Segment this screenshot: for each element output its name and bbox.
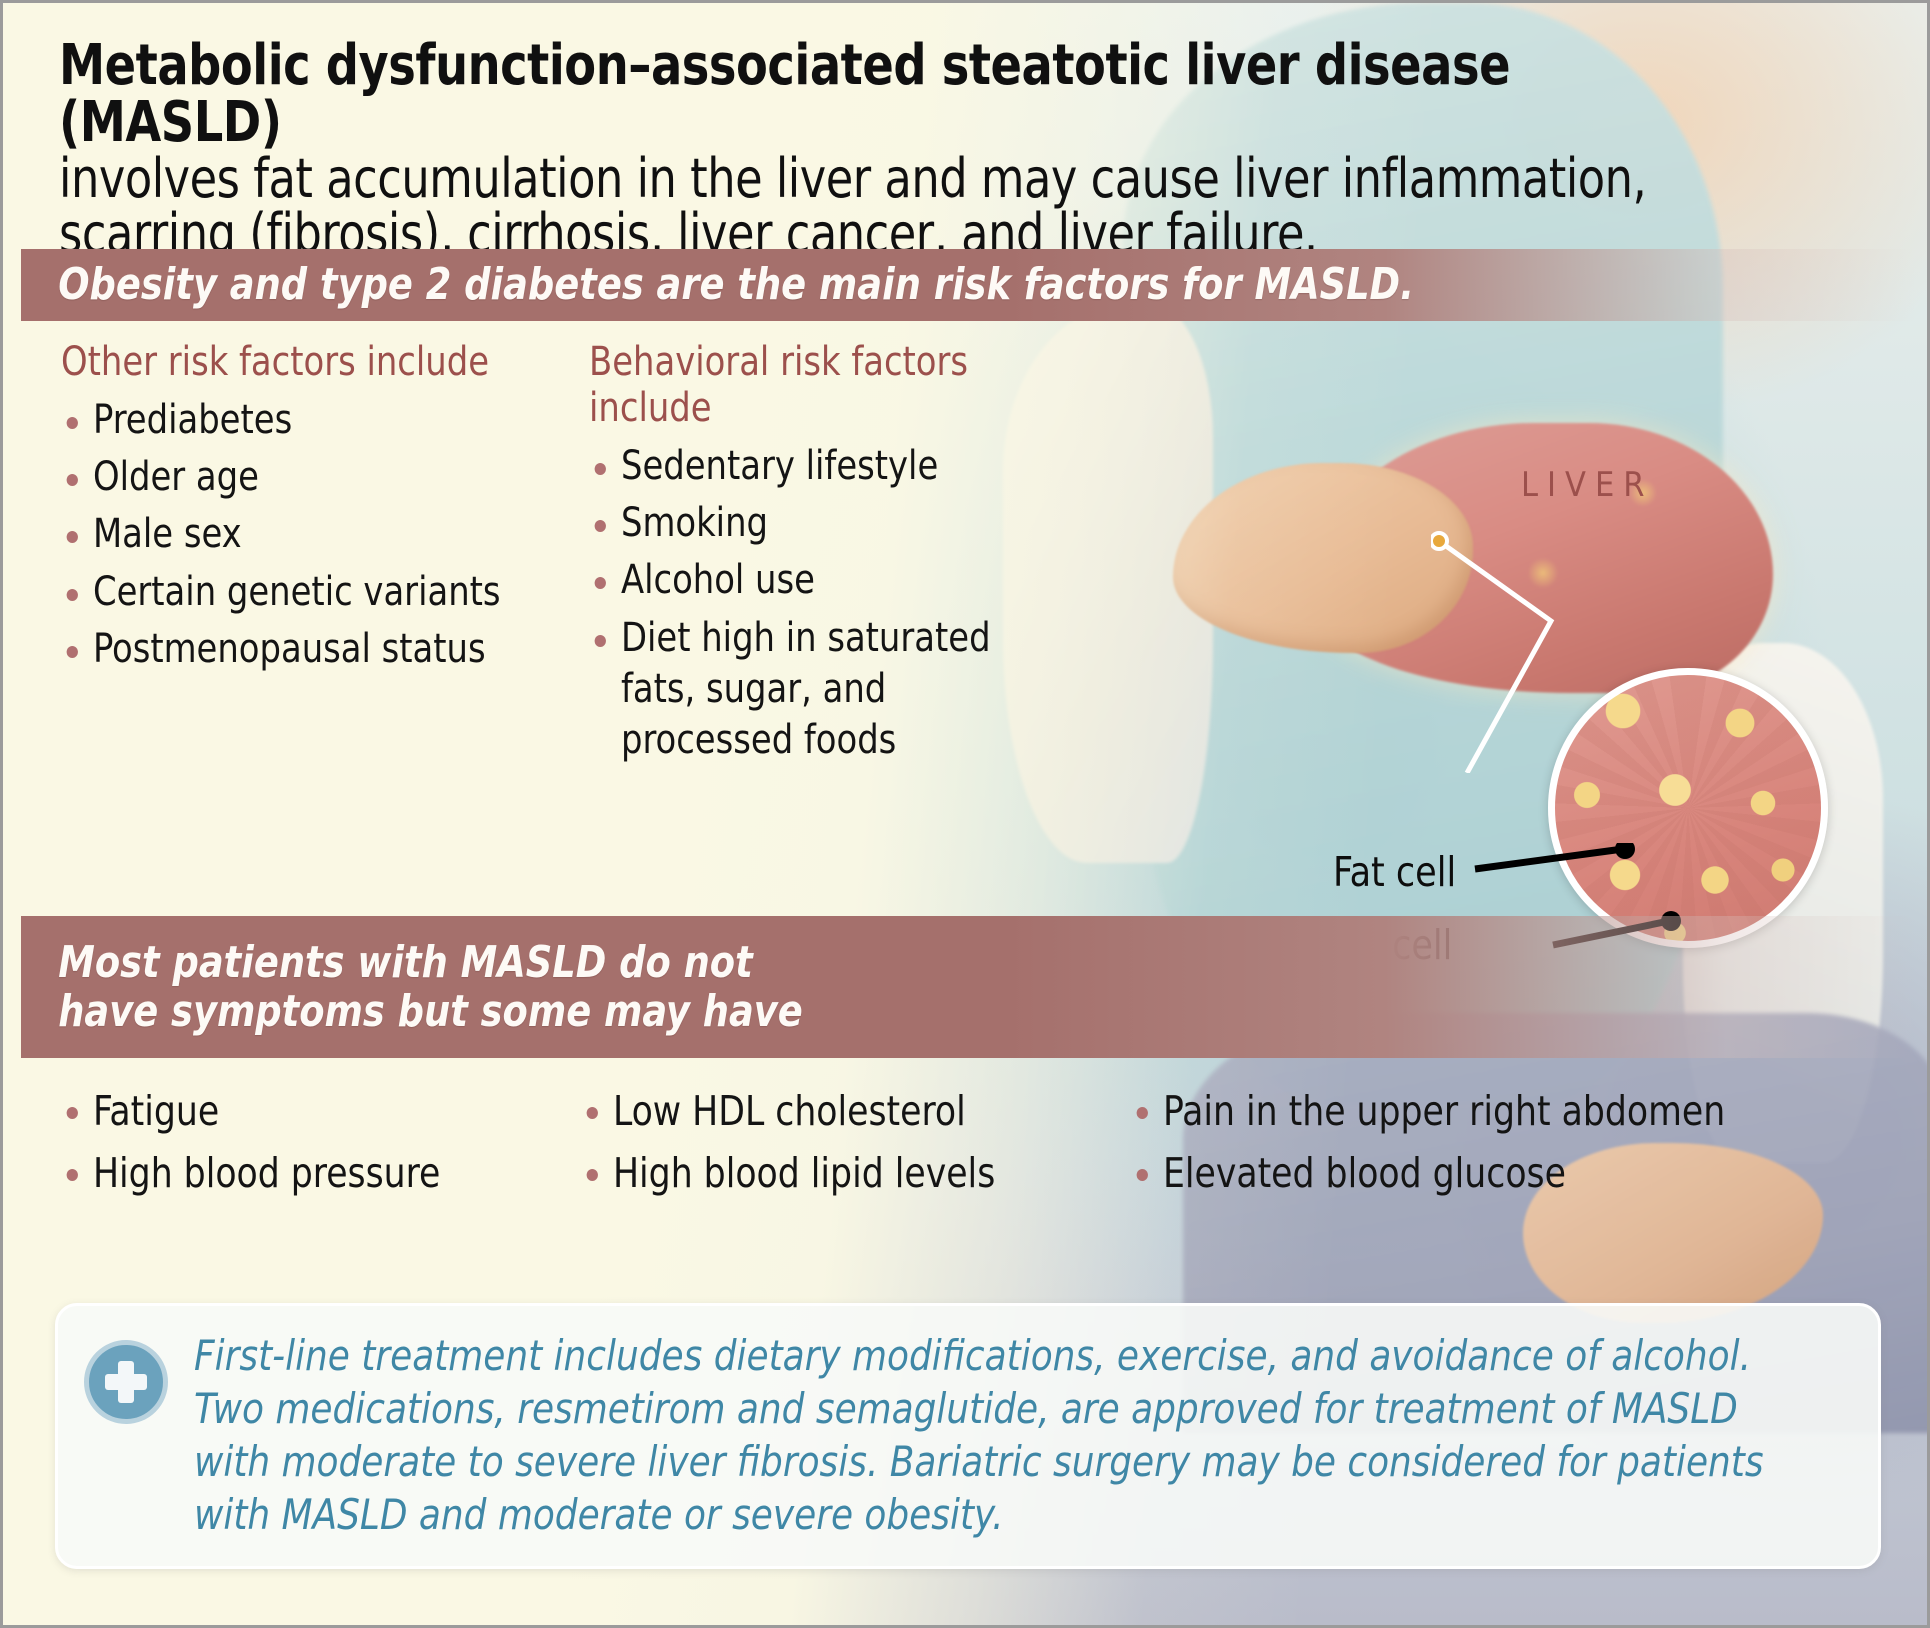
other-risk-factors-column: Other risk factors include Prediabetes O…	[61, 339, 531, 772]
symptoms-banner-line-1: Most patients with MASLD do not	[58, 938, 803, 987]
list-item: Prediabetes	[61, 395, 503, 446]
symptoms-columns: Fatigue High blood pressure Low HDL chol…	[61, 1085, 1891, 1210]
symptoms-banner: Most patients with MASLD do not have sym…	[21, 916, 1915, 1058]
list-item: Pain in the upper right abdomen	[1131, 1085, 1845, 1137]
risk-factor-columns: Other risk factors include Prediabetes O…	[61, 339, 1019, 772]
list-item: High blood pressure	[61, 1147, 550, 1199]
list-item: Fatigue	[61, 1085, 550, 1137]
header: Metabolic dysfunction–associated steatot…	[3, 3, 1930, 277]
symptoms-column-3: Pain in the upper right abdomen Elevated…	[1131, 1085, 1891, 1210]
treatment-text: First-line treatment includes dietary mo…	[194, 1330, 1765, 1542]
behavioral-risk-factors-column: Behavioral risk factors include Sedentar…	[589, 339, 1019, 772]
list-item: Smoking	[589, 498, 993, 549]
behavioral-risk-factors-heading: Behavioral risk factors include	[589, 339, 993, 431]
page-title: Metabolic dysfunction–associated steatot…	[59, 37, 1732, 151]
page-subtitle-line-1: involves fat accumulation in the liver a…	[59, 151, 1732, 206]
symptoms-column-1: Fatigue High blood pressure	[61, 1085, 581, 1210]
risk-factors-banner-text: Obesity and type 2 diabetes are the main…	[21, 250, 1414, 319]
symptoms-banner-text: Most patients with MASLD do not have sym…	[21, 928, 803, 1047]
list-item: Elevated blood glucose	[1131, 1147, 1845, 1199]
risk-factors-banner: Obesity and type 2 diabetes are the main…	[21, 249, 1915, 321]
list-item: High blood lipid levels	[581, 1147, 1098, 1199]
list-item: Sedentary lifestyle	[589, 441, 993, 492]
symptoms-column-2: Low HDL cholesterol High blood lipid lev…	[581, 1085, 1131, 1210]
behavioral-risk-factors-list: Sedentary lifestyle Smoking Alcohol use …	[589, 441, 1019, 766]
list-item: Older age	[61, 452, 503, 503]
medical-plus-icon	[84, 1340, 168, 1424]
infographic-frame: Metabolic dysfunction–associated steatot…	[0, 0, 1930, 1628]
list-item: Male sex	[61, 509, 503, 560]
list-item: Postmenopausal status	[61, 624, 503, 675]
list-item: Alcohol use	[589, 555, 993, 606]
treatment-callout-box: First-line treatment includes dietary mo…	[55, 1303, 1881, 1569]
symptoms-banner-line-2: have symptoms but some may have	[58, 987, 803, 1036]
other-risk-factors-list: Prediabetes Older age Male sex Certain g…	[61, 395, 531, 675]
other-risk-factors-heading: Other risk factors include	[61, 339, 503, 385]
list-item: Diet high in saturated fats, sugar, and …	[589, 613, 993, 767]
list-item: Certain genetic variants	[61, 567, 503, 618]
fat-cell-label: Fat cell	[1333, 848, 1456, 896]
liver-label: LIVER	[1521, 465, 1654, 505]
list-item: Low HDL cholesterol	[581, 1085, 1098, 1137]
